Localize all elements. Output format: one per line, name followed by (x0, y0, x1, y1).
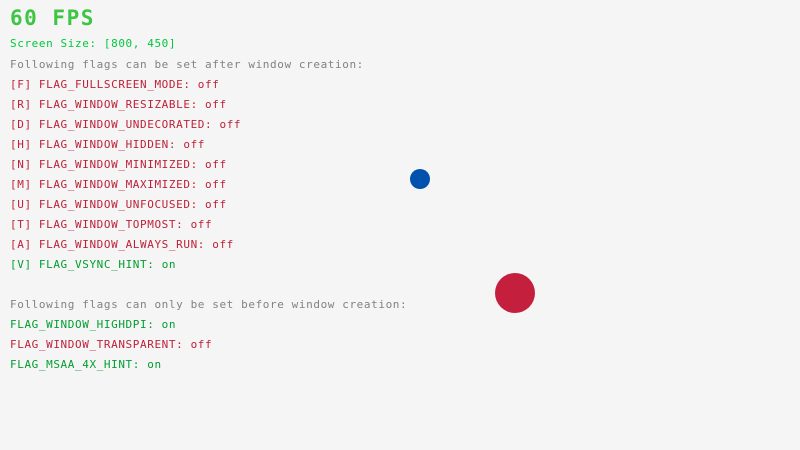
flag-name: FLAG_WINDOW_TOPMOST: (32, 218, 184, 231)
flag-name: FLAG_WINDOW_HIGHDPI: (10, 318, 154, 331)
flag-row-flag-window-unfocused[interactable]: [U] FLAG_WINDOW_UNFOCUSED: off (10, 199, 227, 210)
flag-state-value: off (183, 338, 212, 351)
raylib-window-canvas: 60 FPS Screen Size: [800, 450] Following… (0, 0, 800, 450)
flag-row-flag-window-maximized[interactable]: [M] FLAG_WINDOW_MAXIMIZED: off (10, 179, 227, 190)
flag-state-value: off (198, 158, 227, 171)
flag-row-flag-window-always-run[interactable]: [A] FLAG_WINDOW_ALWAYS_RUN: off (10, 239, 234, 250)
static-flag-row-flag-window-transparent: FLAG_WINDOW_TRANSPARENT: off (10, 339, 212, 350)
flag-name: FLAG_FULLSCREEN_MODE: (32, 78, 191, 91)
flag-shortcut-key: [F] (10, 78, 32, 91)
flag-row-flag-window-resizable[interactable]: [R] FLAG_WINDOW_RESIZABLE: off (10, 99, 227, 110)
blue-ball (410, 169, 430, 189)
flag-state-value: off (198, 198, 227, 211)
flag-state-value: off (198, 178, 227, 191)
flag-name: FLAG_WINDOW_MINIMIZED: (32, 158, 198, 171)
flag-shortcut-key: [D] (10, 118, 32, 131)
fps-counter: 60 FPS (10, 8, 95, 29)
flag-shortcut-key: [N] (10, 158, 32, 171)
flag-row-flag-window-undecorated[interactable]: [D] FLAG_WINDOW_UNDECORATED: off (10, 119, 241, 130)
flag-name: FLAG_VSYNC_HINT: (32, 258, 155, 271)
flag-row-flag-window-minimized[interactable]: [N] FLAG_WINDOW_MINIMIZED: off (10, 159, 227, 170)
flag-shortcut-key: [T] (10, 218, 32, 231)
static-flag-row-flag-window-highdpi: FLAG_WINDOW_HIGHDPI: on (10, 319, 176, 330)
flag-name: FLAG_WINDOW_TRANSPARENT: (10, 338, 183, 351)
heading-flags-before-creation: Following flags can only be set before w… (10, 299, 407, 310)
flag-shortcut-key: [H] (10, 138, 32, 151)
flag-state-value: on (154, 318, 176, 331)
flag-state-value: on (154, 258, 176, 271)
flag-name: FLAG_WINDOW_UNDECORATED: (32, 118, 213, 131)
flag-shortcut-key: [M] (10, 178, 32, 191)
flag-shortcut-key: [U] (10, 198, 32, 211)
flag-name: FLAG_WINDOW_MAXIMIZED: (32, 178, 198, 191)
flag-state-value: off (191, 78, 220, 91)
static-flag-row-flag-msaa-4x-hint: FLAG_MSAA_4X_HINT: on (10, 359, 162, 370)
screen-size-readout: Screen Size: [800, 450] (10, 38, 176, 49)
red-ball (495, 273, 535, 313)
flag-shortcut-key: [A] (10, 238, 32, 251)
flag-row-flag-vsync-hint[interactable]: [V] FLAG_VSYNC_HINT: on (10, 259, 176, 270)
flag-row-flag-fullscreen-mode[interactable]: [F] FLAG_FULLSCREEN_MODE: off (10, 79, 219, 90)
flag-state-value: off (176, 138, 205, 151)
flag-name: FLAG_WINDOW_RESIZABLE: (32, 98, 198, 111)
flag-row-flag-window-topmost[interactable]: [T] FLAG_WINDOW_TOPMOST: off (10, 219, 212, 230)
flag-state-value: off (183, 218, 212, 231)
flag-state-value: on (140, 358, 162, 371)
flag-state-value: off (212, 118, 241, 131)
flag-state-value: off (205, 238, 234, 251)
heading-flags-after-creation: Following flags can be set after window … (10, 59, 364, 70)
flag-row-flag-window-hidden[interactable]: [H] FLAG_WINDOW_HIDDEN: off (10, 139, 205, 150)
flag-name: FLAG_WINDOW_UNFOCUSED: (32, 198, 198, 211)
flag-state-value: off (198, 98, 227, 111)
flag-name: FLAG_MSAA_4X_HINT: (10, 358, 140, 371)
flag-name: FLAG_WINDOW_ALWAYS_RUN: (32, 238, 205, 251)
flag-shortcut-key: [V] (10, 258, 32, 271)
flag-shortcut-key: [R] (10, 98, 32, 111)
flag-name: FLAG_WINDOW_HIDDEN: (32, 138, 176, 151)
